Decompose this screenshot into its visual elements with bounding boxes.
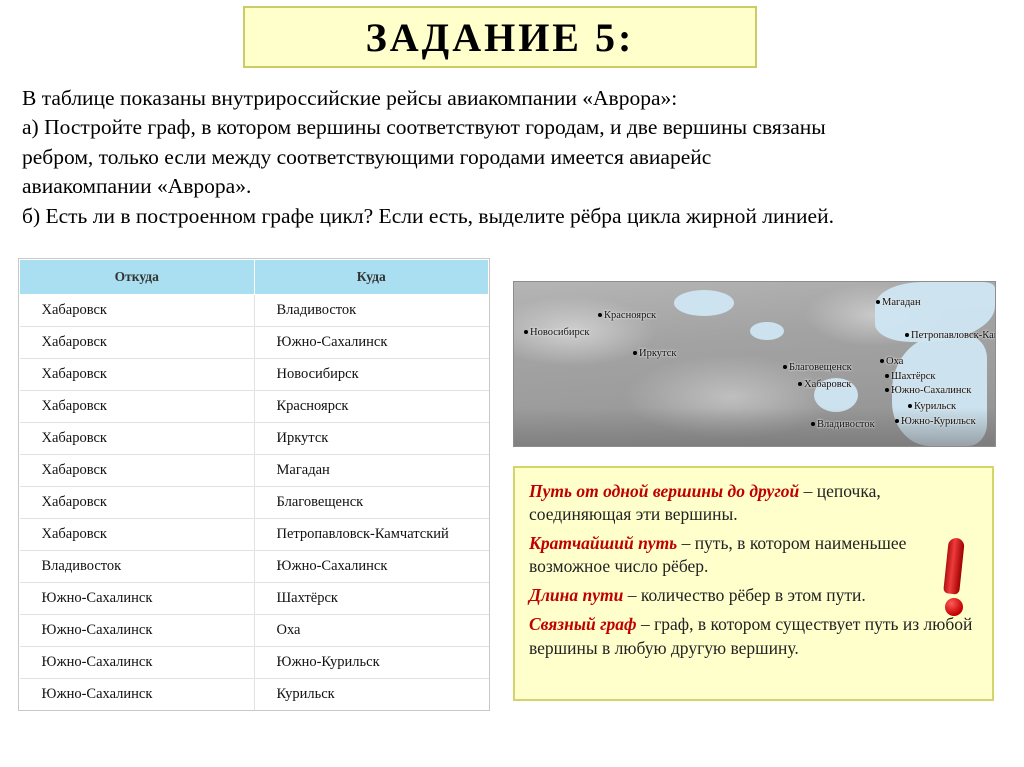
table-cell-to: Южно-Курильск [254,647,489,679]
map-city-label: Шахтёрск [891,371,936,382]
definition-path-term: Путь от одной вершины до другой [529,481,799,501]
table-row: ВладивостокЮжно-Сахалинск [20,551,489,583]
russia-map: НовосибирскКрасноярскИркутскМагаданПетро… [513,281,996,447]
table-cell-from: Хабаровск [20,391,255,423]
map-water-lake-small [750,322,784,340]
table-row: ХабаровскМагадан [20,455,489,487]
map-city-dot [880,359,884,363]
map-city-dot [798,382,802,386]
map-city-label: Новосибирск [530,327,589,338]
table-row: ХабаровскВладивосток [20,295,489,327]
map-city-label: Владивосток [817,419,875,430]
table-row: ХабаровскНовосибирск [20,359,489,391]
map-city-label: Петропавловск-Камчатский [911,330,996,341]
table-row: ХабаровскПетропавловск-Камчатский [20,519,489,551]
table-cell-to: Петропавловск-Камчатский [254,519,489,551]
table-row: ХабаровскЮжно-Сахалинск [20,327,489,359]
table-cell-from: Южно-Сахалинск [20,679,255,711]
definition-path-length-text: – количество рёбер в этом пути. [623,585,865,605]
map-city-label: Южно-Курильск [901,416,976,427]
page-title-box: ЗАДАНИЕ 5: [243,6,757,68]
table-cell-to: Красноярск [254,391,489,423]
map-water-lake-north [674,290,734,316]
table-cell-to: Владивосток [254,295,489,327]
intro-line-5: б) Есть ли в построенном графе цикл? Есл… [22,202,1007,231]
table-cell-to: Шахтёрск [254,583,489,615]
definition-path-length: Длина пути – количество рёбер в этом пут… [529,584,978,607]
map-city-dot [598,313,602,317]
page-title: ЗАДАНИЕ 5: [366,14,635,61]
table-cell-to: Оха [254,615,489,647]
table-row: Южно-СахалинскЮжно-Курильск [20,647,489,679]
definition-path-length-term: Длина пути [529,585,623,605]
table-header-to: Куда [254,260,489,295]
map-city-dot [905,333,909,337]
definition-connected-graph: Связный граф – граф, в котором существуе… [529,613,978,659]
intro-line-3: ребром, только если между соответствующи… [22,143,1007,172]
intro-text: В таблице показаны внутрироссийские рейс… [22,84,1007,231]
table-cell-from: Хабаровск [20,359,255,391]
table-cell-to: Магадан [254,455,489,487]
table-cell-from: Южно-Сахалинск [20,583,255,615]
flights-table-container: Откуда Куда ХабаровскВладивостокХабаровс… [18,258,490,711]
table-row: Южно-СахалинскКурильск [20,679,489,711]
exclamation-mark-icon [940,538,970,620]
map-city-label: Курильск [914,401,956,412]
table-header-row: Откуда Куда [20,260,489,295]
table-cell-from: Хабаровск [20,295,255,327]
intro-line-4: авиакомпании «Аврора». [22,172,1007,201]
map-city-dot [885,374,889,378]
flights-table: Откуда Куда ХабаровскВладивостокХабаровс… [19,259,489,710]
map-city-label: Иркутск [639,348,677,359]
map-city-label: Магадан [882,297,921,308]
table-cell-to: Благовещенск [254,487,489,519]
table-row: Южно-СахалинскОха [20,615,489,647]
table-cell-to: Новосибирск [254,359,489,391]
map-city-dot [633,351,637,355]
definitions-box: Путь от одной вершины до другой – цепочк… [513,466,994,701]
table-cell-to: Иркутск [254,423,489,455]
map-city-dot [895,419,899,423]
table-cell-to: Южно-Сахалинск [254,327,489,359]
table-cell-from: Хабаровск [20,423,255,455]
table-cell-from: Хабаровск [20,519,255,551]
definition-shortest-path-term: Кратчайший путь [529,533,677,553]
map-city-label: Хабаровск [804,379,851,390]
table-row: Южно-СахалинскШахтёрск [20,583,489,615]
table-cell-from: Хабаровск [20,487,255,519]
map-city-dot [783,365,787,369]
table-row: ХабаровскБлаговещенск [20,487,489,519]
map-city-label: Оха [886,356,903,367]
table-header-from: Откуда [20,260,255,295]
map-city-dot [811,422,815,426]
table-cell-to: Курильск [254,679,489,711]
map-city-dot [885,388,889,392]
map-city-label: Благовещенск [789,362,852,373]
map-city-label: Красноярск [604,310,656,321]
map-city-label: Южно-Сахалинск [891,385,971,396]
map-city-dot [524,330,528,334]
table-cell-from: Южно-Сахалинск [20,615,255,647]
map-city-dot [908,404,912,408]
map-city-dot [876,300,880,304]
definition-shortest-path: Кратчайший путь – путь, в котором наимен… [529,532,978,578]
table-cell-from: Хабаровск [20,455,255,487]
definition-connected-graph-term: Связный граф [529,614,637,634]
intro-line-1: В таблице показаны внутрироссийские рейс… [22,84,1007,113]
exclamation-dot [945,598,963,616]
table-cell-to: Южно-Сахалинск [254,551,489,583]
intro-line-2: а) Постройте граф, в котором вершины соо… [22,113,1007,142]
table-row: ХабаровскКрасноярск [20,391,489,423]
table-cell-from: Владивосток [20,551,255,583]
table-cell-from: Южно-Сахалинск [20,647,255,679]
table-cell-from: Хабаровск [20,327,255,359]
exclamation-bar [943,537,965,594]
table-row: ХабаровскИркутск [20,423,489,455]
flights-table-body: ХабаровскВладивостокХабаровскЮжно-Сахали… [20,295,489,711]
map-coast-shading [514,408,995,446]
definition-path: Путь от одной вершины до другой – цепочк… [529,480,978,526]
